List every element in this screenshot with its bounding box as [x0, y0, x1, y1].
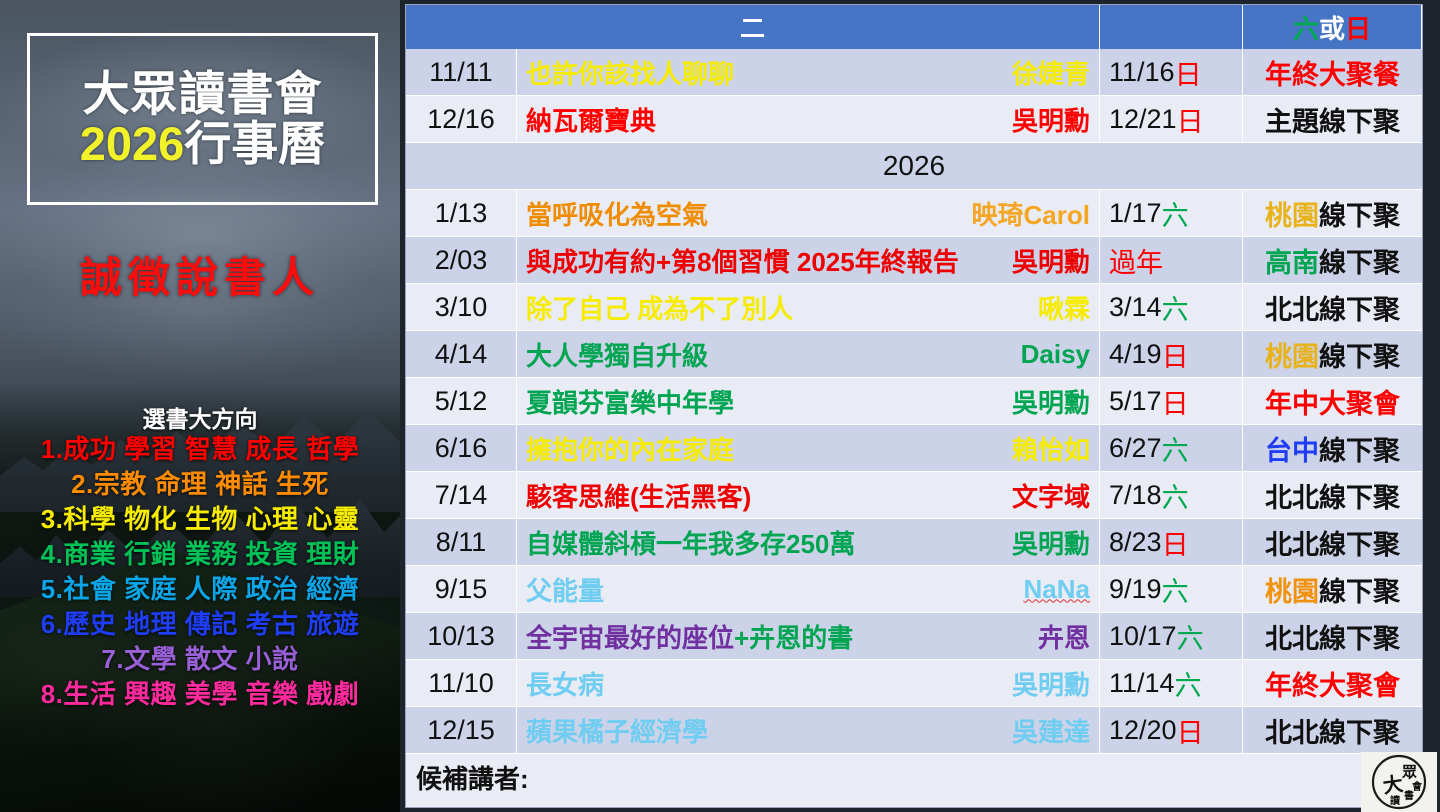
- svg-text:讀: 讀: [1390, 794, 1400, 807]
- speaker-name: 徐婕青: [1012, 54, 1090, 91]
- weekend-date-part-1: 4/19: [1109, 339, 1162, 370]
- cell-book-and-speaker: 除了自己 成為不了別人啾霖: [517, 284, 1100, 330]
- cell-date: 9/15: [406, 566, 517, 612]
- cell-book-and-speaker: 當呼吸化為空氣映琦Carol: [517, 190, 1100, 236]
- cell-location: 桃園線下聚: [1243, 190, 1422, 236]
- weekend-date-part-2: 日: [1162, 382, 1189, 421]
- cell-location: 年終大聚餐: [1243, 49, 1422, 95]
- weekend-date-part-1: 5/17: [1109, 386, 1162, 417]
- weekend-date-part-2: 日: [1177, 711, 1204, 750]
- location-part-1: 年中大聚會: [1265, 389, 1400, 419]
- header-weekend-sun: 日: [1345, 9, 1371, 46]
- cell-location: 桃園線下聚: [1243, 331, 1422, 377]
- location-part-1: 北北線下聚: [1265, 530, 1400, 560]
- table-row[interactable]: 7/14駭客思維(生活黑客)文字域7/18六北北線下聚: [406, 472, 1422, 519]
- weekend-date-part-2: 日: [1175, 53, 1202, 92]
- location-text: 桃園線下聚: [1265, 194, 1400, 233]
- location-text: 年終大聚餐: [1265, 53, 1400, 92]
- cell-book-and-speaker: 擁抱你的內在家庭賴怡如: [517, 425, 1100, 471]
- location-part-1: 年終大聚餐: [1265, 60, 1400, 90]
- speaker-name: 吳明勳: [1012, 383, 1090, 420]
- header-weekend-or: 或: [1319, 9, 1345, 46]
- location-part-1: 主題線下聚: [1265, 107, 1400, 137]
- logo-circle-icon: 大 眾 會 書 讀: [1362, 753, 1436, 811]
- table-row[interactable]: 5/12夏韻芬富樂中年學吳明勳5/17日年中大聚會: [406, 378, 1422, 425]
- weekend-date-part-1: 8/23: [1109, 527, 1162, 558]
- location-part-2: 線下聚: [1319, 436, 1400, 466]
- cell-book-and-speaker: 納瓦爾寶典吳明勳: [517, 96, 1100, 142]
- header-weekday-main: 二: [406, 5, 1100, 49]
- table-row[interactable]: 6/16擁抱你的內在家庭賴怡如6/27六台中線下聚: [406, 425, 1422, 472]
- weekend-date-part-2: 六: [1162, 476, 1189, 515]
- cell-date: 11/11: [406, 49, 517, 95]
- location-part-2: 線下聚: [1319, 248, 1400, 278]
- location-part-1: 桃園: [1265, 342, 1319, 372]
- header-weekend-sat: 六: [1293, 9, 1319, 46]
- category-line-1: 1.成功 學習 智慧 成長 哲學: [0, 432, 400, 467]
- location-text: 主題線下聚: [1265, 100, 1400, 139]
- cell-book-and-speaker: 駭客思維(生活黑客)文字域: [517, 472, 1100, 518]
- cell-date: 10/13: [406, 613, 517, 659]
- location-part-1: 桃園: [1265, 201, 1319, 231]
- table-row[interactable]: 4/14大人學獨自升級Daisy4/19日桃園線下聚: [406, 331, 1422, 378]
- cell-location: 北北線下聚: [1243, 519, 1422, 565]
- speaker-name: 文字域: [1012, 477, 1090, 514]
- organization-logo-stamp: 大 眾 會 書 讀: [1361, 752, 1437, 812]
- recruit-headline: 誠徵說書人: [0, 244, 400, 305]
- book-title: 駭客思維(生活黑客): [526, 477, 751, 514]
- location-text: 年終大聚會: [1265, 664, 1400, 703]
- table-body: 11/11也許你該找人聊聊徐婕青11/16日年終大聚餐12/16納瓦爾寶典吳明勳…: [406, 49, 1422, 754]
- speaker-name: 吳明勳: [1012, 665, 1090, 702]
- book-title: 納瓦爾寶典: [526, 101, 656, 138]
- footer-candidate-speakers: 候補講者:: [406, 754, 1422, 801]
- weekend-date-part-1: 12/21: [1109, 104, 1177, 135]
- location-part-1: 北北線下聚: [1265, 718, 1400, 748]
- poster-title-line-2: 2026行事曆: [80, 120, 326, 168]
- cell-date: 12/15: [406, 707, 517, 753]
- category-line-2: 2.宗教 命理 神話 生死: [0, 467, 400, 502]
- location-part-1: 台中: [1265, 436, 1319, 466]
- year-divider-row: 2026: [406, 143, 1422, 190]
- cell-date: 12/16: [406, 96, 517, 142]
- table-row[interactable]: 11/11也許你該找人聊聊徐婕青11/16日年終大聚餐: [406, 49, 1422, 96]
- cell-date: 6/16: [406, 425, 517, 471]
- cell-location: 高南線下聚: [1243, 237, 1422, 283]
- weekend-date-part-2: 六: [1162, 194, 1189, 233]
- cell-book-and-speaker: 長女病吳明勳: [517, 660, 1100, 706]
- weekend-date-part-1: 1/17: [1109, 198, 1162, 229]
- location-part-2: 線下聚: [1319, 201, 1400, 231]
- weekend-date-part-2: 六: [1162, 429, 1189, 468]
- speaker-name: Daisy: [1021, 339, 1090, 370]
- cell-date: 11/10: [406, 660, 517, 706]
- cell-date: 4/14: [406, 331, 517, 377]
- weekend-date-part-2: 日: [1162, 335, 1189, 374]
- cell-date: 2/03: [406, 237, 517, 283]
- category-line-3: 3.科學 物化 生物 心理 心靈: [0, 502, 400, 537]
- speaker-name: 映琦Carol: [972, 195, 1090, 232]
- header-weekend: 六或日: [1243, 5, 1422, 49]
- speaker-name: 吳明勳: [1012, 242, 1090, 279]
- cell-book-and-speaker: 也許你該找人聊聊徐婕青: [517, 49, 1100, 95]
- cell-date: 1/13: [406, 190, 517, 236]
- poster-title-line-1: 大眾讀書會: [83, 70, 323, 118]
- location-text: 桃園線下聚: [1265, 335, 1400, 374]
- category-line-4: 4.商業 行銷 業務 投資 理財: [0, 537, 400, 572]
- cell-weekend-date: 7/18六: [1100, 472, 1243, 518]
- cell-weekend-date: 8/23日: [1100, 519, 1243, 565]
- weekend-date-part-1: 10/17: [1109, 621, 1177, 652]
- category-line-8: 8.生活 興趣 美學 音樂 戲劇: [0, 677, 400, 712]
- location-text: 年中大聚會: [1265, 382, 1400, 421]
- table-row[interactable]: 8/11自媒體斜槓一年我多存250萬吳明勳8/23日北北線下聚: [406, 519, 1422, 566]
- cell-date: 8/11: [406, 519, 517, 565]
- location-text: 台中線下聚: [1265, 429, 1400, 468]
- cell-book-and-speaker: 與成功有約+第8個習慣 2025年終報告吳明勳: [517, 237, 1100, 283]
- location-part-2: 線下聚: [1319, 577, 1400, 607]
- cell-location: 台中線下聚: [1243, 425, 1422, 471]
- cell-date: 5/12: [406, 378, 517, 424]
- book-title-suffix: +卉恩的書: [734, 618, 853, 655]
- location-part-1: 高南: [1265, 248, 1319, 278]
- location-text: 高南線下聚: [1265, 241, 1400, 280]
- table-row[interactable]: 2/03與成功有約+第8個習慣 2025年終報告吳明勳過年高南線下聚: [406, 237, 1422, 284]
- table-row[interactable]: 3/10除了自己 成為不了別人啾霖3/14六北北線下聚: [406, 284, 1422, 331]
- poster-title-year: 2026: [80, 117, 185, 170]
- weekend-date-part-1: 7/18: [1109, 480, 1162, 511]
- cell-weekend-date: 5/17日: [1100, 378, 1243, 424]
- speaker-name: 賴怡如: [1012, 430, 1090, 467]
- weekend-date-part-2: 六: [1177, 617, 1204, 656]
- category-line-6: 6.歷史 地理 傳記 考古 旅遊: [0, 607, 400, 642]
- cell-weekend-date: 11/16日: [1100, 49, 1243, 95]
- cell-weekend-date: 9/19六: [1100, 566, 1243, 612]
- speaker-name: 吳明勳: [1012, 524, 1090, 561]
- location-text: 北北線下聚: [1265, 288, 1400, 327]
- location-part-2: 線下聚: [1319, 342, 1400, 372]
- cell-book-and-speaker: 蘋果橘子經濟學吳建達: [517, 707, 1100, 753]
- svg-text:書: 書: [1404, 789, 1414, 802]
- cell-book-and-speaker: 自媒體斜槓一年我多存250萬吳明勳: [517, 519, 1100, 565]
- book-title: 自媒體斜槓一年我多存250萬: [526, 524, 855, 561]
- cell-location: 年終大聚會: [1243, 660, 1422, 706]
- weekend-date-part-1: 11/16: [1109, 57, 1175, 88]
- book-title: 蘋果橘子經濟學: [526, 712, 708, 749]
- cell-date: 3/10: [406, 284, 517, 330]
- cell-book-and-speaker: 夏韻芬富樂中年學吳明勳: [517, 378, 1100, 424]
- book-title: 當呼吸化為空氣: [526, 195, 708, 232]
- cell-weekend-date: 過年: [1100, 237, 1243, 283]
- category-line-5: 5.社會 家庭 人際 政治 經濟: [0, 572, 400, 607]
- book-title: 長女病: [526, 665, 604, 702]
- categories-heading: 選書大方向: [0, 400, 400, 434]
- table-row[interactable]: 12/15蘋果橘子經濟學吳建達12/20日北北線下聚: [406, 707, 1422, 754]
- cell-location: 主題線下聚: [1243, 96, 1422, 142]
- table-row[interactable]: 12/16納瓦爾寶典吳明勳12/21日主題線下聚: [406, 96, 1422, 143]
- book-title: 大人學獨自升級: [526, 336, 708, 373]
- cell-date: 7/14: [406, 472, 517, 518]
- weekend-date-part-1: 過年: [1109, 241, 1163, 280]
- book-title: 除了自己 成為不了別人: [526, 289, 793, 326]
- book-title: 父能量: [526, 571, 604, 608]
- table-row[interactable]: 1/13當呼吸化為空氣映琦Carol1/17六桃園線下聚: [406, 190, 1422, 237]
- cell-location: 桃園線下聚: [1243, 566, 1422, 612]
- book-title: 也許你該找人聊聊: [526, 54, 734, 91]
- location-part-1: 北北線下聚: [1265, 295, 1400, 325]
- speaker-name: 吳明勳: [1012, 101, 1090, 138]
- location-part-1: 北北線下聚: [1265, 624, 1400, 654]
- weekend-date-part-1: 6/27: [1109, 433, 1162, 464]
- speaker-name: 吳建達: [1012, 712, 1090, 749]
- book-title: 與成功有約+第8個習慣 2025年終報告: [526, 242, 959, 279]
- location-text: 北北線下聚: [1265, 617, 1400, 656]
- location-text: 北北線下聚: [1265, 476, 1400, 515]
- cell-weekend-date: 3/14六: [1100, 284, 1243, 330]
- location-text: 桃園線下聚: [1265, 570, 1400, 609]
- speaker-name: NaNa: [1024, 574, 1090, 605]
- table-row[interactable]: 11/10長女病吳明勳11/14六年終大聚會: [406, 660, 1422, 707]
- cell-book-and-speaker: 大人學獨自升級Daisy: [517, 331, 1100, 377]
- cell-location: 年中大聚會: [1243, 378, 1422, 424]
- weekend-date-part-2: 六: [1175, 664, 1202, 703]
- cell-location: 北北線下聚: [1243, 284, 1422, 330]
- cell-location: 北北線下聚: [1243, 472, 1422, 518]
- speaker-name: 卉恩: [1038, 618, 1090, 655]
- weekend-date-part-1: 12/20: [1109, 715, 1177, 746]
- poster-panel: 大眾讀書會 2026行事曆 誠徵說書人 選書大方向 1.成功 學習 智慧 成長 …: [0, 0, 400, 812]
- cell-weekend-date: 1/17六: [1100, 190, 1243, 236]
- table-row[interactable]: 10/13全宇宙最好的座位+卉恩的書卉恩10/17六北北線下聚: [406, 613, 1422, 660]
- schedule-table: 二 六或日 11/11也許你該找人聊聊徐婕青11/16日年終大聚餐12/16納瓦…: [405, 4, 1423, 808]
- poster-title-box: 大眾讀書會 2026行事曆: [27, 33, 378, 205]
- category-line-7: 7.文學 散文 小說: [0, 642, 400, 677]
- weekend-date-part-2: 六: [1162, 288, 1189, 327]
- book-title: 全宇宙最好的座位: [526, 618, 734, 655]
- location-part-1: 桃園: [1265, 577, 1319, 607]
- book-title: 擁抱你的內在家庭: [526, 430, 734, 467]
- weekend-date-part-1: 9/19: [1109, 574, 1162, 605]
- poster-title-suffix: 行事曆: [184, 117, 325, 170]
- weekend-date-part-2: 日: [1177, 100, 1204, 139]
- cell-weekend-date: 11/14六: [1100, 660, 1243, 706]
- cell-weekend-date: 6/27六: [1100, 425, 1243, 471]
- weekend-date-part-2: 日: [1162, 523, 1189, 562]
- cell-book-and-speaker: 全宇宙最好的座位+卉恩的書卉恩: [517, 613, 1100, 659]
- location-part-1: 北北線下聚: [1265, 483, 1400, 513]
- cell-weekend-date: 4/19日: [1100, 331, 1243, 377]
- cell-weekend-date: 12/20日: [1100, 707, 1243, 753]
- speaker-name: 啾霖: [1038, 289, 1090, 326]
- table-row[interactable]: 9/15父能量NaNa9/19六桃園線下聚: [406, 566, 1422, 613]
- cell-location: 北北線下聚: [1243, 707, 1422, 753]
- book-title: 夏韻芬富樂中年學: [526, 383, 734, 420]
- table-header-row: 二 六或日: [406, 5, 1422, 49]
- cell-book-and-speaker: 父能量NaNa: [517, 566, 1100, 612]
- cell-weekend-date: 12/21日: [1100, 96, 1243, 142]
- cell-weekend-date: 10/17六: [1100, 613, 1243, 659]
- categories-list: 1.成功 學習 智慧 成長 哲學2.宗教 命理 神話 生死3.科學 物化 生物 …: [0, 432, 400, 712]
- cell-location: 北北線下聚: [1243, 613, 1422, 659]
- header-blank-cell: [1100, 5, 1243, 49]
- weekend-date-part-2: 六: [1162, 570, 1189, 609]
- weekend-date-part-1: 11/14: [1109, 668, 1175, 699]
- svg-text:眾: 眾: [1401, 764, 1417, 781]
- weekend-date-part-1: 3/14: [1109, 292, 1162, 323]
- location-text: 北北線下聚: [1265, 711, 1400, 750]
- location-part-1: 年終大聚會: [1265, 671, 1400, 701]
- location-text: 北北線下聚: [1265, 523, 1400, 562]
